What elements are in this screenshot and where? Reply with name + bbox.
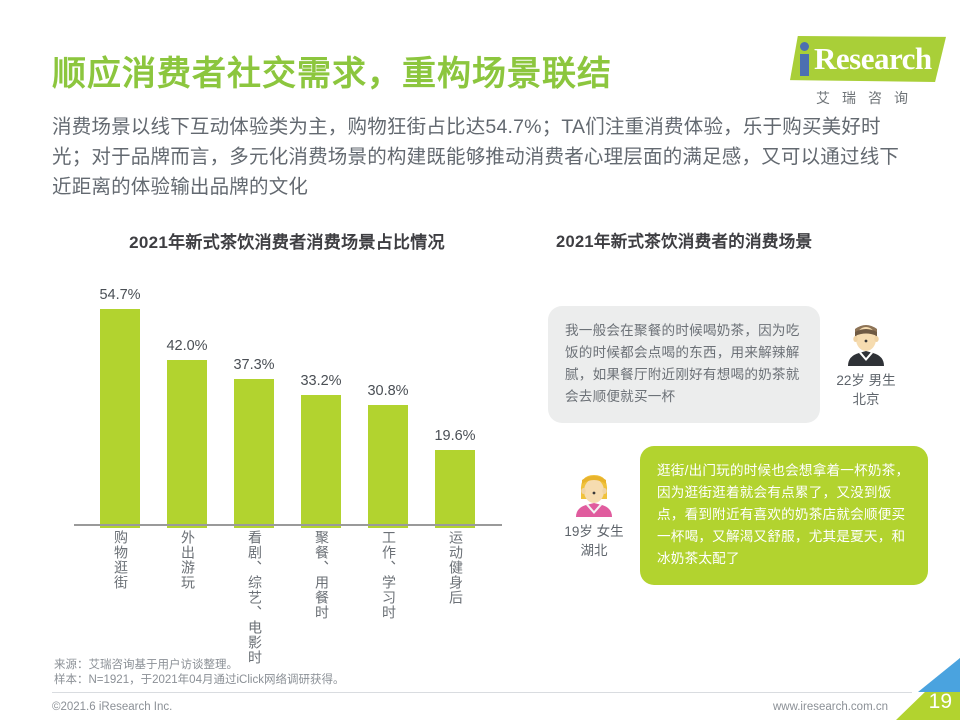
male-avatar-icon xyxy=(843,320,889,366)
bar xyxy=(368,405,408,528)
page-subtitle: 消费场景以线下互动体验类为主，购物狂街占比达54.7%；TA们注重消费体验，乐于… xyxy=(52,112,912,202)
logo-wordmark: Research xyxy=(814,41,932,77)
footer-copyright: ©2021.6 iResearch Inc. xyxy=(52,701,172,713)
quotes-title: 2021年新式茶饮消费者的消费场景 xyxy=(556,228,812,252)
page-number: 19 xyxy=(929,690,952,714)
category-label: 工作、学习时 xyxy=(380,530,397,660)
quote-person-age-gender: 22岁 男生 xyxy=(820,371,912,390)
bar-value-label: 42.0% xyxy=(151,338,223,354)
chart-title: 2021年新式茶饮消费者消费场景占比情况 xyxy=(52,228,522,253)
category-label: 聚餐、用餐时 xyxy=(313,530,330,660)
quote-bubble: 逛街/出门玩的时候也会想拿着一杯奶茶，因为逛街逛着就会有点累了，又没到饭点，看到… xyxy=(640,446,928,585)
bar-value-label: 37.3% xyxy=(218,357,290,373)
female-avatar-icon xyxy=(571,471,617,517)
quote-row: 我一般会在聚餐的时候喝奶茶，因为吃饭的时候都会点喝的东西，用来解辣解腻，如果餐厅… xyxy=(548,306,912,423)
bar-value-label: 33.2% xyxy=(285,373,357,389)
bar xyxy=(234,379,274,528)
bar-chart-panel: 2021年新式茶饮消费者消费场景占比情况 54.7%42.0%37.3%33.2… xyxy=(52,228,522,648)
source-note: 来源：艾瑞咨询基于用户访谈整理。 样本：N=1921，于2021年04月通过iC… xyxy=(54,658,344,688)
logo-i-stem-icon xyxy=(800,54,809,76)
corner-blue-triangle xyxy=(918,658,960,692)
quote-person-meta: 19岁 女生 湖北 xyxy=(548,522,640,560)
footer-url: www.iresearch.com.cn xyxy=(773,701,888,713)
source-line-2: 样本：N=1921，于2021年04月通过iClick网络调研获得。 xyxy=(54,673,344,688)
quote-person-meta: 22岁 男生 北京 xyxy=(820,371,912,409)
quote-person: 22岁 男生 北京 xyxy=(820,320,912,409)
bar-value-label: 30.8% xyxy=(352,383,424,399)
quotes-panel: 2021年新式茶饮消费者的消费场景 我一般会在聚餐的时候喝奶茶，因为吃饭的时候都… xyxy=(548,228,948,608)
chart-x-axis-line xyxy=(74,524,502,526)
quote-bubble: 我一般会在聚餐的时候喝奶茶，因为吃饭的时候都会点喝的东西，用来解辣解腻，如果餐厅… xyxy=(548,306,820,423)
bar-value-label: 54.7% xyxy=(84,287,156,303)
bar-value-label: 19.6% xyxy=(419,428,491,444)
category-label: 看剧、综艺、电影时 xyxy=(246,530,263,660)
bar xyxy=(301,395,341,528)
quote-person: 19岁 女生 湖北 xyxy=(548,471,640,560)
bar xyxy=(100,309,140,528)
quote-person-age-gender: 19岁 女生 xyxy=(548,522,640,541)
logo-i-dot-icon xyxy=(800,42,809,51)
chart-plot-area: 54.7%42.0%37.3%33.2%30.8%19.6% xyxy=(78,288,508,528)
footer-divider xyxy=(52,692,912,693)
bar xyxy=(167,360,207,528)
iresearch-logo: Research 艾瑞咨询 xyxy=(778,36,946,118)
page-title: 顺应消费者社交需求，重构场景联结 xyxy=(52,46,612,95)
quote-person-city: 湖北 xyxy=(548,541,640,560)
category-label: 运动健身后 xyxy=(447,530,464,660)
bar xyxy=(435,450,475,528)
quote-row: 19岁 女生 湖北 逛街/出门玩的时候也会想拿着一杯奶茶，因为逛街逛着就会有点累… xyxy=(548,446,928,585)
logo-chinese-name: 艾瑞咨询 xyxy=(792,88,944,108)
source-line-1: 来源：艾瑞咨询基于用户访谈整理。 xyxy=(54,658,344,673)
category-label: 外出游玩 xyxy=(179,530,196,660)
category-label: 购物逛街 xyxy=(112,530,129,660)
quote-person-city: 北京 xyxy=(820,390,912,409)
